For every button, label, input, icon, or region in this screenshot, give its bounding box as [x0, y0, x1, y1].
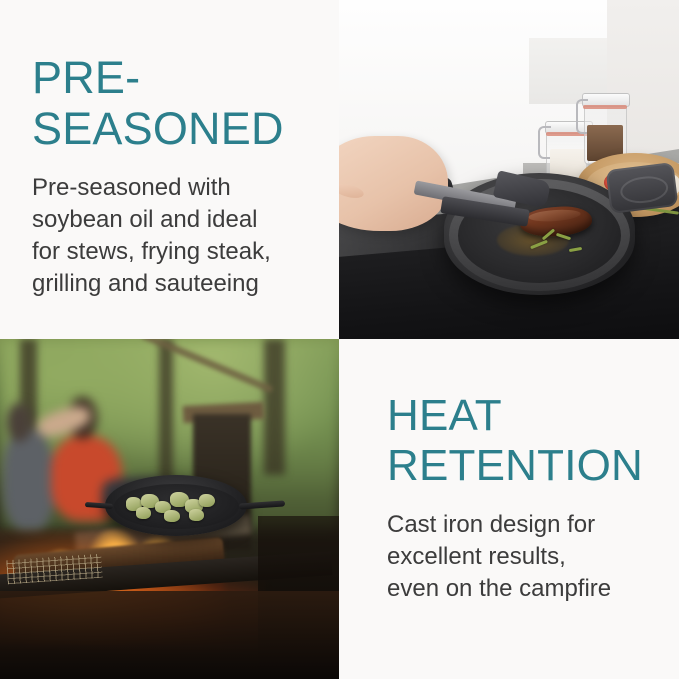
panel-pre-seasoned-headline: PRE- SEASONED: [32, 52, 309, 154]
vegetable-piece: [189, 509, 204, 521]
fire-pit-ground: [0, 591, 339, 679]
vegetable-piece: [199, 494, 215, 508]
thumb: [339, 182, 365, 201]
silicone-handle-grip: [605, 162, 678, 214]
photo-campfire-cooking: [0, 339, 339, 679]
photo-skillet-steak: [339, 0, 679, 339]
vegetable-piece: [136, 507, 151, 519]
steak-highlight: [528, 208, 580, 222]
panel-pre-seasoned: PRE- SEASONED Pre-seasoned with soybean …: [0, 0, 339, 339]
feature-grid: PRE- SEASONED Pre-seasoned with soybean …: [0, 0, 679, 679]
vegetable-piece: [164, 510, 180, 522]
jar-gasket: [583, 105, 627, 109]
panel-heat-retention-headline: HEAT RETENTION: [387, 391, 655, 491]
tree-trunk: [264, 339, 284, 475]
panel-heat-retention-body: Cast iron design for excellent results, …: [387, 509, 655, 605]
person-left: [3, 429, 54, 530]
cast-iron-skillet: [105, 475, 247, 536]
rosemary-sprig: [569, 247, 582, 252]
skillet-interior: [114, 484, 239, 529]
panel-heat-retention: HEAT RETENTION Cast iron design for exce…: [339, 339, 679, 679]
panel-pre-seasoned-body: Pre-seasoned with soybean oil and ideal …: [32, 172, 309, 300]
